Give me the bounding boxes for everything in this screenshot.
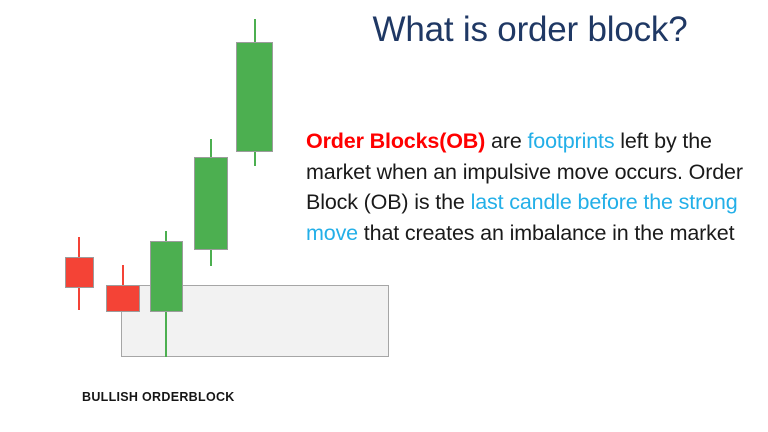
candle-5-body <box>236 42 273 152</box>
wick-line <box>122 265 124 285</box>
candle-3-body <box>150 241 183 312</box>
candle-2-body <box>106 285 140 312</box>
candle-1-body <box>65 257 94 288</box>
candlestick-chart: BULLISH ORDERBLOCK <box>0 0 300 432</box>
body-segment-order-blocks-ob: Order Blocks(OB) <box>306 129 485 153</box>
body-segment-footprints: footprints <box>527 129 614 153</box>
wick-line <box>165 312 167 357</box>
body-segment-are: are <box>485 129 527 153</box>
page-title: What is order block? <box>300 8 760 52</box>
body-paragraph: Order Blocks(OB) are footprints left by … <box>306 126 766 248</box>
chart-caption: BULLISH ORDERBLOCK <box>82 390 235 404</box>
candle-4-body <box>194 157 228 250</box>
body-segment-imbalance: that creates an imbalance in the market <box>358 221 734 245</box>
wick-line <box>165 231 167 241</box>
